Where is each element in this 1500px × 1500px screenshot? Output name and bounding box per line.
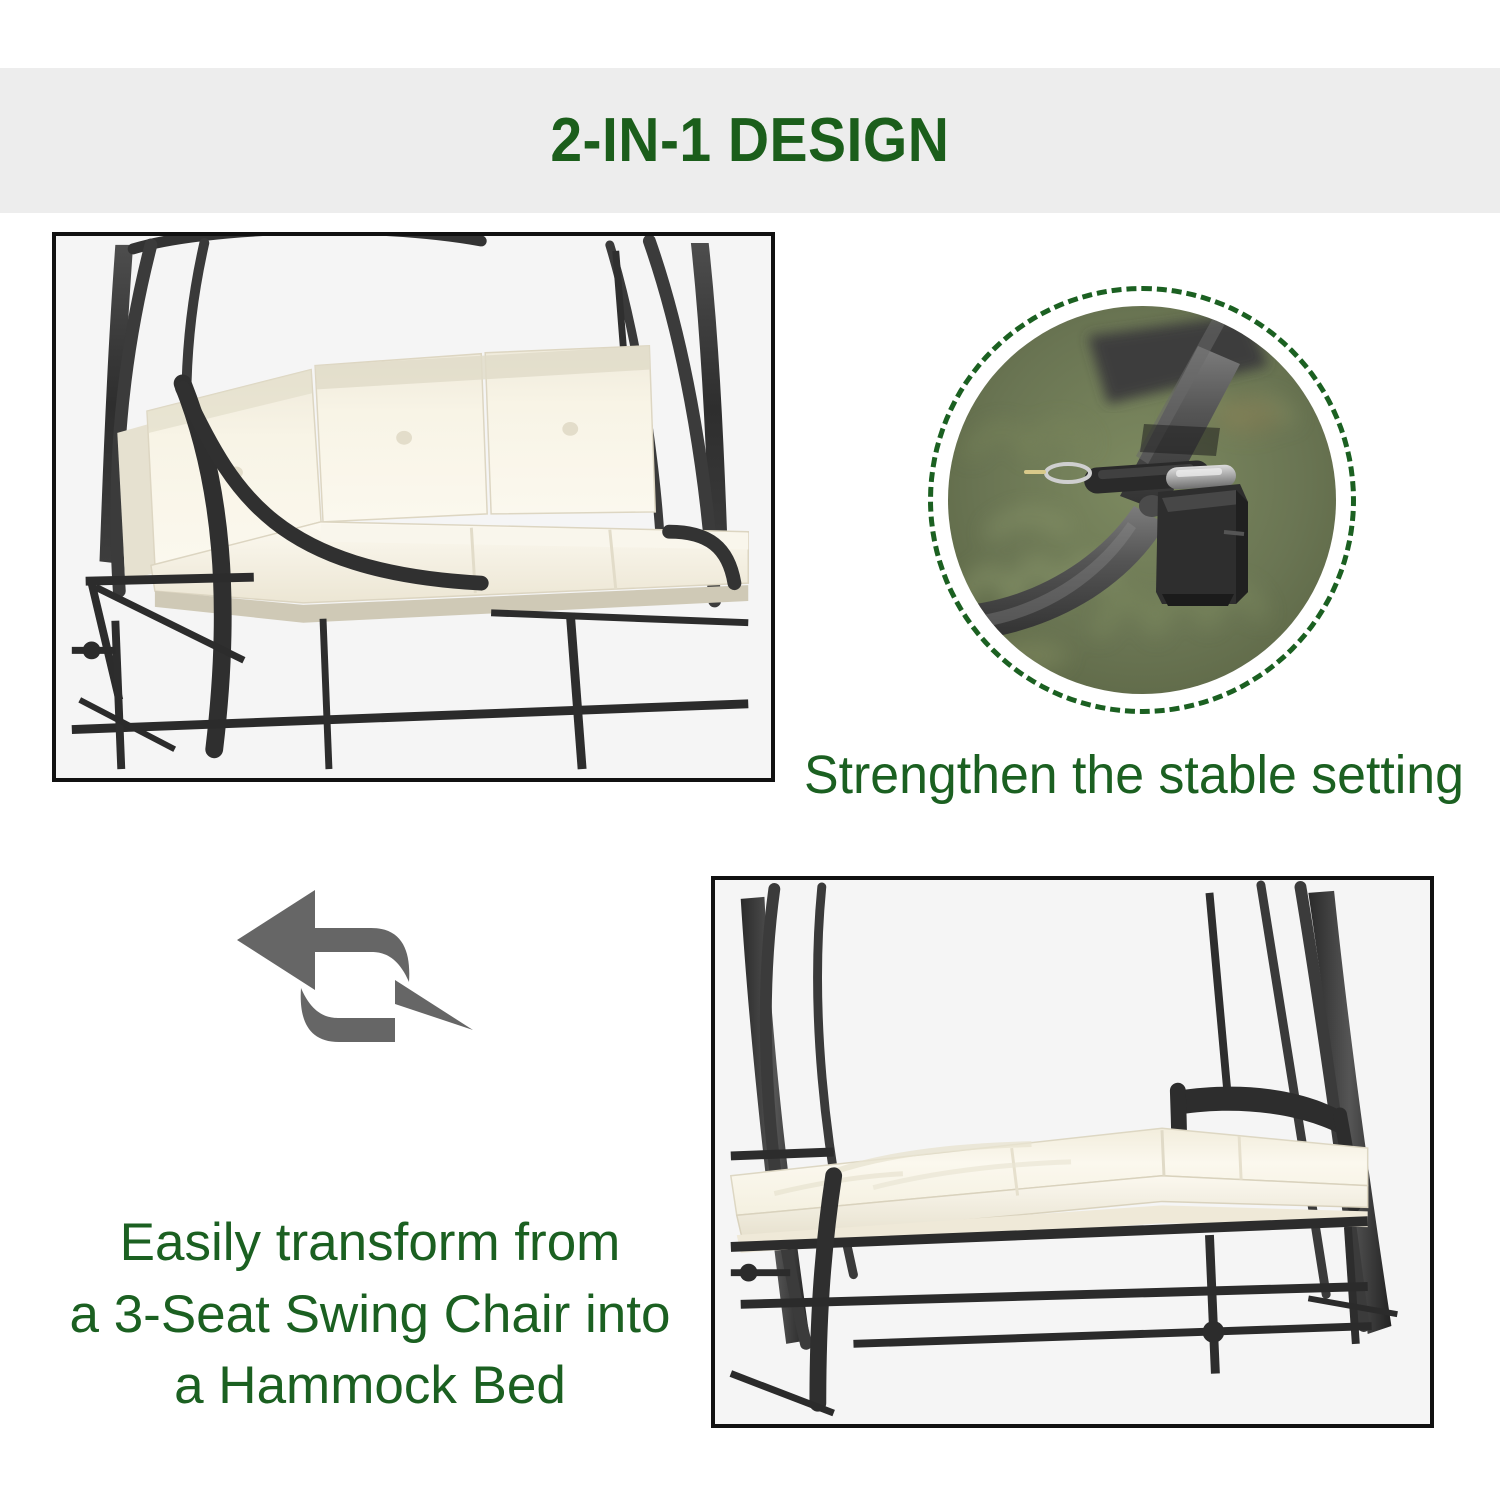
swap-arrows-glyph [231, 878, 479, 1128]
transform-caption: Easily transform from a 3-Seat Swing Cha… [60, 1207, 680, 1422]
header-banner: 2-IN-1 DESIGN [0, 68, 1500, 213]
transform-caption-line-3: a Hammock Bed [60, 1350, 680, 1422]
page-title: 2-IN-1 DESIGN [550, 105, 949, 176]
swing-chair-illustration [56, 236, 771, 778]
locking-pin-illustration [948, 306, 1336, 694]
locking-pin-photo [948, 306, 1336, 694]
hammock-bed-photo-panel [711, 876, 1434, 1428]
transform-caption-line-1: Easily transform from [60, 1207, 680, 1279]
stable-setting-caption: Strengthen the stable setting [804, 744, 1464, 806]
locking-pin-detail [928, 286, 1356, 714]
swap-arrows-icon [231, 878, 479, 1128]
transform-caption-line-2: a 3-Seat Swing Chair into [60, 1279, 680, 1351]
hammock-bed-illustration [715, 880, 1430, 1424]
swing-chair-photo-panel [52, 232, 775, 782]
